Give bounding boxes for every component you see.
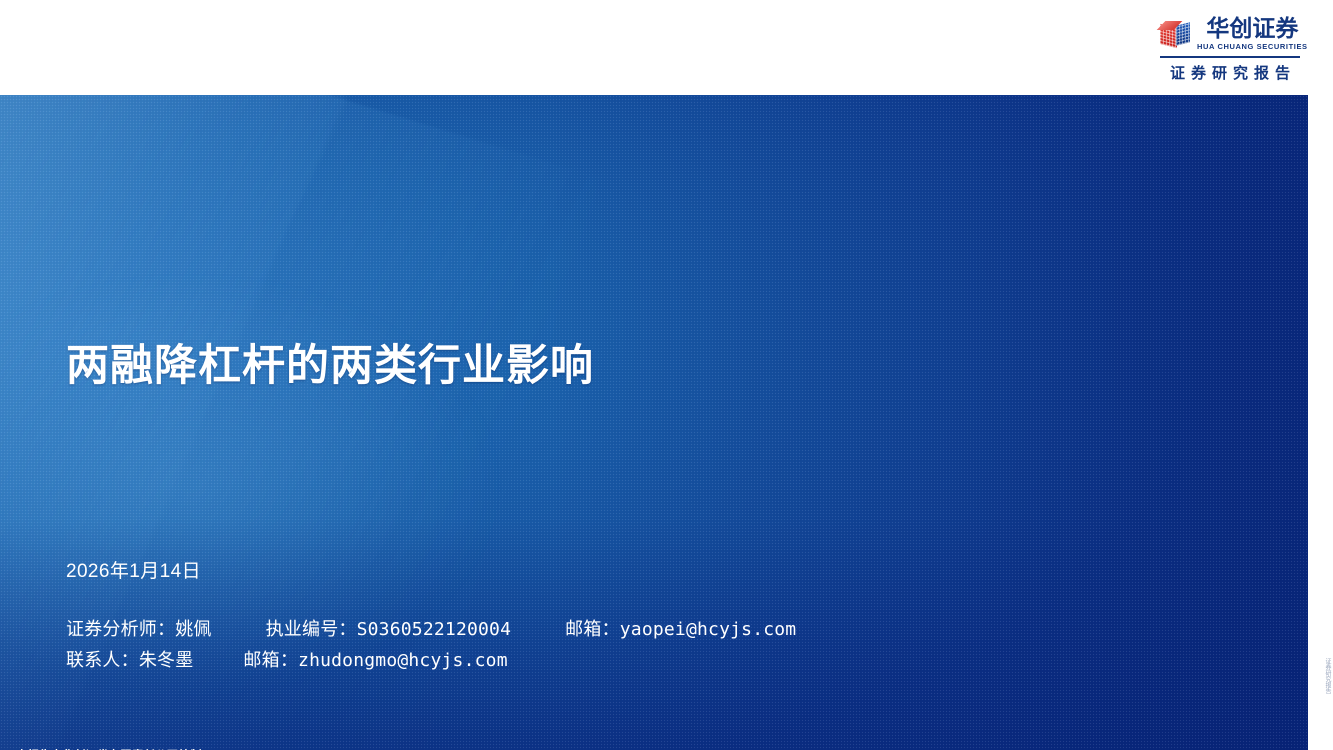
contact-role-label: 联系人： (66, 650, 139, 671)
report-type-tagline: 证券研究报告 (1160, 62, 1300, 83)
cube-face-blue (1176, 22, 1190, 45)
logo-row: 华创证券 HUA CHUANG SECURITIES (1160, 18, 1300, 50)
report-cover-slide: 华创证券 HUA CHUANG SECURITIES 证券研究报告 两融降杠杆的… (0, 0, 1333, 750)
analyst-role-label: 证券分析师： (66, 619, 175, 640)
hero-panel: 两融降杠杆的两类行业影响 2026年1月14日 证券分析师：姚佩执业编号：S03… (0, 95, 1308, 750)
contact-email[interactable]: zhudongmo@hcyjs.com (298, 650, 508, 671)
cube-logo-icon (1160, 21, 1190, 47)
page-title: 两融降杠杆的两类行业影响 (66, 338, 594, 394)
analyst-email[interactable]: yaopei@hcyjs.com (620, 619, 797, 640)
analyst-name: 姚佩 (175, 619, 211, 640)
contact-info-row: 联系人：朱冬墨邮箱：zhudongmo@hcyjs.com (66, 646, 508, 672)
company-name-cn: 华创证券 (1197, 17, 1308, 41)
license-number: S0360522120004 (357, 619, 512, 640)
contact-email-label: 邮箱： (243, 650, 298, 671)
logo-divider (1160, 56, 1300, 58)
header-bar: 华创证券 HUA CHUANG SECURITIES 证券研究报告 (0, 0, 1333, 95)
report-date: 2026年1月14日 (66, 556, 201, 583)
brand-logo: 华创证券 HUA CHUANG SECURITIES 证券研究报告 (1160, 18, 1300, 83)
analyst-info-row: 证券分析师：姚佩执业编号：S0360522120004邮箱：yaopei@hcy… (66, 615, 796, 641)
contact-name: 朱冬墨 (139, 650, 194, 671)
logo-text-group: 华创证券 HUA CHUANG SECURITIES (1197, 17, 1308, 51)
side-vertical-code: 证券研究报告 (1323, 658, 1331, 694)
license-label: 执业编号： (266, 619, 357, 640)
hero-content: 两融降杠杆的两类行业影响 2026年1月14日 证券分析师：姚佩执业编号：S03… (0, 95, 1308, 750)
analyst-email-label: 邮箱： (565, 619, 620, 640)
company-name-en: HUA CHUANG SECURITIES (1197, 42, 1308, 51)
